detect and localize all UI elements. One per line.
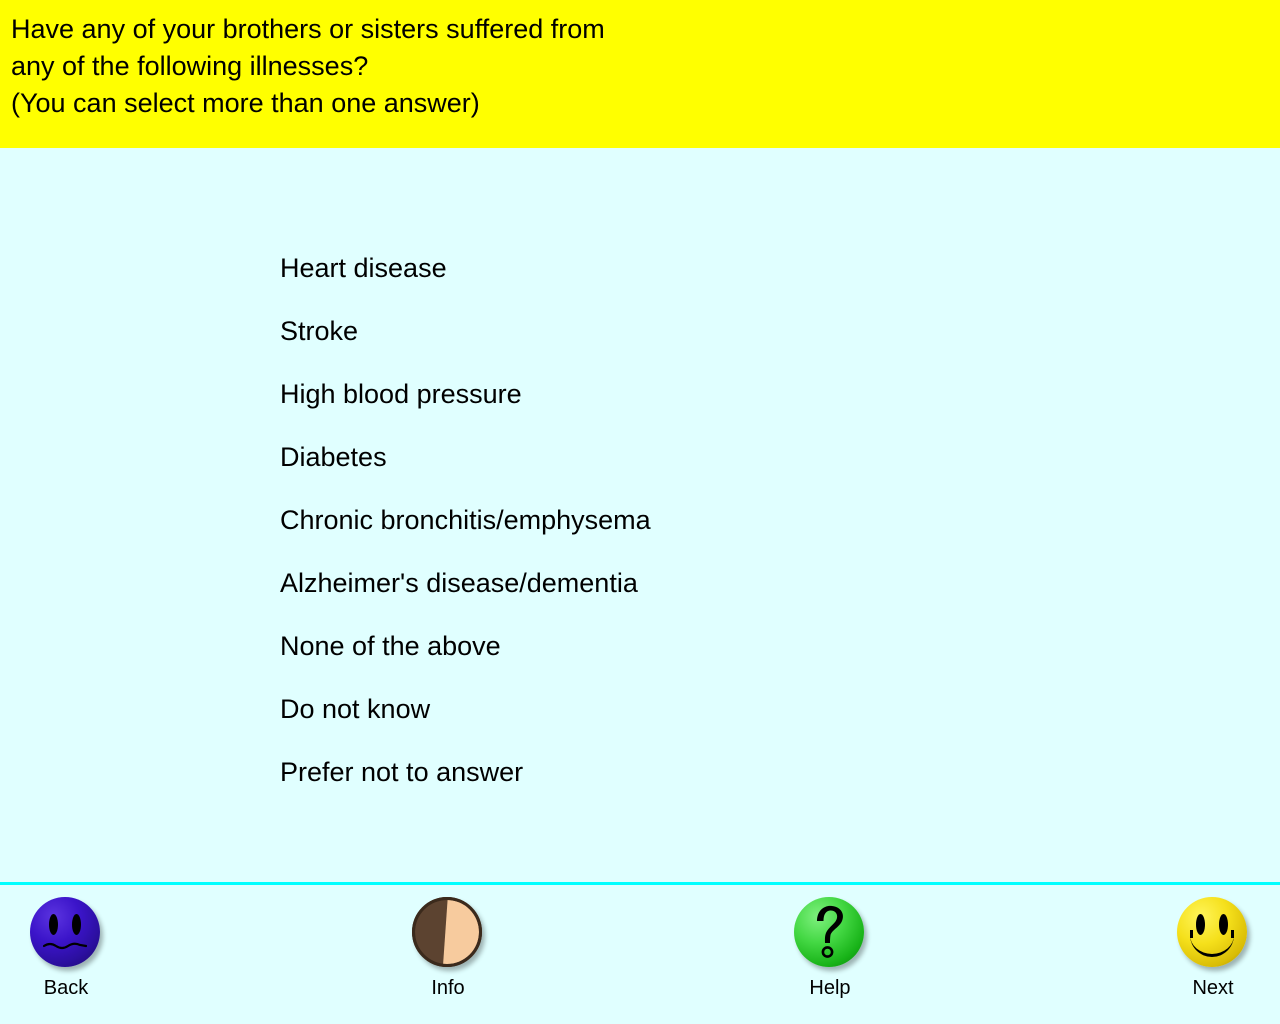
face-circle bbox=[794, 897, 864, 967]
options-list: Heart disease Stroke High blood pressure… bbox=[280, 236, 1180, 803]
question-line-1: Have any of your brothers or sisters suf… bbox=[11, 11, 1280, 48]
split-brown-circle-icon[interactable] bbox=[412, 897, 484, 969]
info-button-label: Info bbox=[388, 977, 508, 999]
options-area: Heart disease Stroke High blood pressure… bbox=[0, 148, 1280, 883]
yellow-smiley-face-icon[interactable] bbox=[1177, 897, 1249, 969]
wavy-mouth-icon bbox=[43, 941, 87, 951]
option-alzheimers-disease-dementia[interactable]: Alzheimer's disease/dementia bbox=[280, 551, 1180, 614]
info-outer-ring bbox=[412, 897, 482, 967]
face-circle bbox=[30, 897, 100, 967]
option-prefer-not-to-answer[interactable]: Prefer not to answer bbox=[280, 740, 1180, 803]
question-line-2: any of the following illnesses? bbox=[11, 48, 1280, 85]
option-label: Chronic bronchitis/emphysema bbox=[280, 505, 651, 535]
green-question-mark-icon[interactable] bbox=[794, 897, 866, 969]
option-diabetes[interactable]: Diabetes bbox=[280, 425, 1180, 488]
option-label: Heart disease bbox=[280, 253, 447, 283]
info-button[interactable]: Info bbox=[388, 897, 508, 999]
option-none-of-the-above[interactable]: None of the above bbox=[280, 614, 1180, 677]
option-label: Stroke bbox=[280, 316, 358, 346]
option-heart-disease[interactable]: Heart disease bbox=[280, 236, 1180, 299]
option-chronic-bronchitis-emphysema[interactable]: Chronic bronchitis/emphysema bbox=[280, 488, 1180, 551]
back-button[interactable]: Back bbox=[6, 897, 126, 999]
option-label: Alzheimer's disease/dementia bbox=[280, 568, 638, 598]
face-circle bbox=[1177, 897, 1247, 967]
footer-nav: Back Info Help bbox=[0, 885, 1280, 1024]
eye-right bbox=[72, 914, 81, 935]
option-label: Diabetes bbox=[280, 442, 387, 472]
option-label: High blood pressure bbox=[280, 379, 522, 409]
question-mark-glyph-icon bbox=[794, 897, 864, 967]
next-button[interactable]: Next bbox=[1153, 897, 1273, 999]
option-label: Do not know bbox=[280, 694, 430, 724]
help-button-label: Help bbox=[770, 977, 890, 999]
option-label: Prefer not to answer bbox=[280, 757, 523, 787]
question-line-3: (You can select more than one answer) bbox=[11, 85, 1280, 122]
back-button-label: Back bbox=[6, 977, 126, 999]
help-button[interactable]: Help bbox=[770, 897, 890, 999]
option-stroke[interactable]: Stroke bbox=[280, 299, 1180, 362]
next-button-label: Next bbox=[1153, 977, 1273, 999]
smile-mouth-icon bbox=[1190, 927, 1234, 957]
option-do-not-know[interactable]: Do not know bbox=[280, 677, 1180, 740]
question-banner: Have any of your brothers or sisters suf… bbox=[0, 0, 1280, 148]
blue-unsure-face-icon[interactable] bbox=[30, 897, 102, 969]
option-high-blood-pressure[interactable]: High blood pressure bbox=[280, 362, 1180, 425]
eye-left bbox=[49, 914, 58, 935]
option-label: None of the above bbox=[280, 631, 501, 661]
